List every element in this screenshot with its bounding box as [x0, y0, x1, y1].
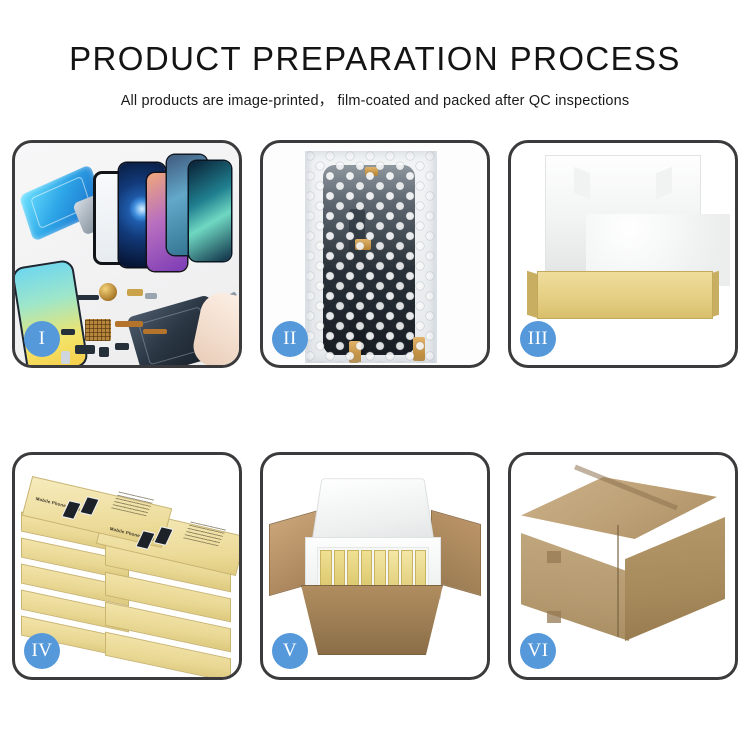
step-badge-4: IV [24, 633, 60, 669]
yellow-box [347, 550, 359, 588]
page-title: PRODUCT PREPARATION PROCESS [0, 42, 750, 75]
yellow-box [374, 550, 386, 588]
yellow-box [415, 550, 427, 588]
lid-flap-right [656, 167, 672, 199]
spare-part [127, 289, 143, 296]
step-badge-6: VI [520, 633, 556, 669]
lid-flap-left [574, 167, 590, 199]
spare-part [77, 295, 99, 300]
bag-edge-shading [305, 151, 437, 363]
box-lid-white [545, 155, 701, 273]
yellow-box [320, 550, 332, 588]
process-step-5[interactable]: V [260, 452, 490, 680]
page-subtitle: All products are image-printed， film-coa… [0, 89, 750, 110]
process-step-grid: I II [12, 140, 738, 680]
process-step-3[interactable]: III [508, 140, 738, 368]
spare-part [75, 345, 95, 354]
header: PRODUCT PREPARATION PROCESS All products… [0, 0, 750, 110]
cardboard-carton-body [301, 585, 443, 655]
carton-tape-patch [547, 611, 561, 623]
flex-cable [143, 329, 167, 334]
yellow-boxes-inside [317, 547, 429, 591]
carton-left-face [521, 533, 629, 641]
bubble-wrap-bag [305, 151, 437, 363]
carton-tape-patch [547, 551, 561, 563]
step-badge-3: III [520, 321, 556, 357]
spare-part [145, 293, 157, 299]
product-preparation-infographic: PRODUCT PREPARATION PROCESS All products… [0, 0, 750, 750]
step-badge-1: I [24, 321, 60, 357]
phone-green-display [189, 161, 231, 261]
spare-part [99, 347, 109, 357]
speaker-module [99, 283, 117, 301]
process-step-1[interactable]: I [12, 140, 242, 368]
spare-part [115, 343, 129, 350]
process-step-2[interactable]: II [260, 140, 490, 368]
yellow-box [388, 550, 400, 588]
circuit-chip [85, 319, 111, 341]
foam-cooler-lid [312, 478, 435, 541]
step-badge-2: II [272, 321, 308, 357]
flex-cable [115, 321, 143, 327]
carton-front-edge [617, 525, 619, 637]
yellow-box [334, 550, 346, 588]
kraft-box-body [537, 271, 713, 319]
yellow-box [401, 550, 413, 588]
spare-part [61, 329, 75, 335]
process-step-4[interactable]: Mobile Phone Spare Parts Mobile Phone Sp… [12, 452, 242, 680]
yellow-box [361, 550, 373, 588]
spare-part [61, 351, 70, 364]
process-step-6[interactable]: VI [508, 452, 738, 680]
step-badge-5: V [272, 633, 308, 669]
